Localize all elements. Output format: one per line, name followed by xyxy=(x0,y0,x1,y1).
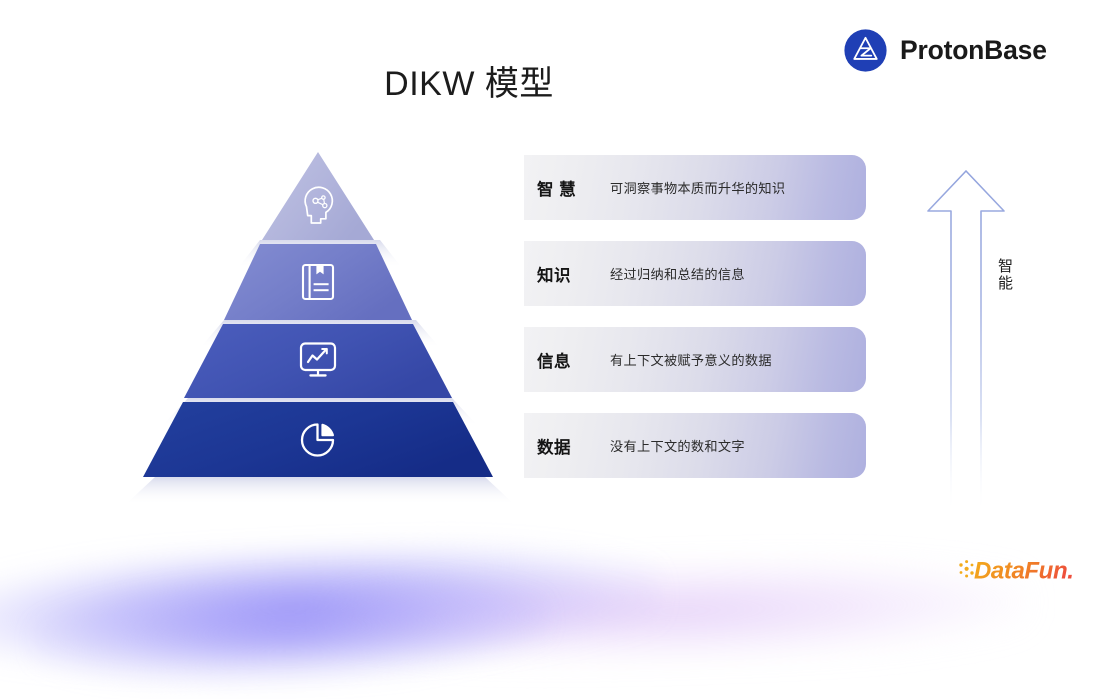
card-description: 没有上下文的数和文字 xyxy=(610,436,745,455)
arrow-label: 智能 xyxy=(918,258,1014,292)
gradient-blob-tertiary xyxy=(27,561,552,698)
card-description: 经过归纳和总结的信息 xyxy=(610,264,745,283)
tier-shadow-data xyxy=(125,477,515,505)
pyramid-tier-wisdom[interactable] xyxy=(262,152,374,240)
card-term: 智 慧 xyxy=(524,176,610,200)
card-wisdom[interactable]: 智 慧 可洞察事物本质而升华的知识 xyxy=(524,155,866,220)
datafun-logo: DataFun. xyxy=(957,552,1089,591)
pyramid-tier-information[interactable] xyxy=(184,324,452,398)
gradient-blob-primary xyxy=(0,532,662,682)
card-description: 有上下文被赋予意义的数据 xyxy=(610,350,772,369)
pyramid-tier-data[interactable] xyxy=(143,402,493,477)
card-data[interactable]: 数据 没有上下文的数和文字 xyxy=(524,413,866,478)
datafun-wordmark: DataFun. xyxy=(974,558,1073,585)
card-information[interactable]: 信息 有上下文被赋予意义的数据 xyxy=(524,327,866,392)
card-term: 知识 xyxy=(524,262,610,286)
bottom-gradient-decoration xyxy=(0,499,1098,619)
intelligence-arrow xyxy=(918,165,1014,515)
up-arrow-outline-icon xyxy=(918,165,1014,515)
datafun-logo-icon: DataFun. xyxy=(957,552,1089,586)
card-knowledge[interactable]: 知识 经过归纳和总结的信息 xyxy=(524,241,866,306)
pyramid-svg xyxy=(110,140,530,515)
arrow-label-text: 智能 xyxy=(918,258,1014,292)
dikw-description-cards: 智 慧 可洞察事物本质而升华的知识 知识 经过归纳和总结的信息 信息 有上下文被… xyxy=(524,155,866,478)
dikw-pyramid xyxy=(110,140,530,515)
card-term: 数据 xyxy=(524,434,610,458)
page-title: DIKW 模型 xyxy=(0,56,1018,105)
gradient-blob-secondary xyxy=(329,553,1031,669)
card-term: 信息 xyxy=(524,348,610,372)
card-description: 可洞察事物本质而升华的知识 xyxy=(610,178,785,197)
